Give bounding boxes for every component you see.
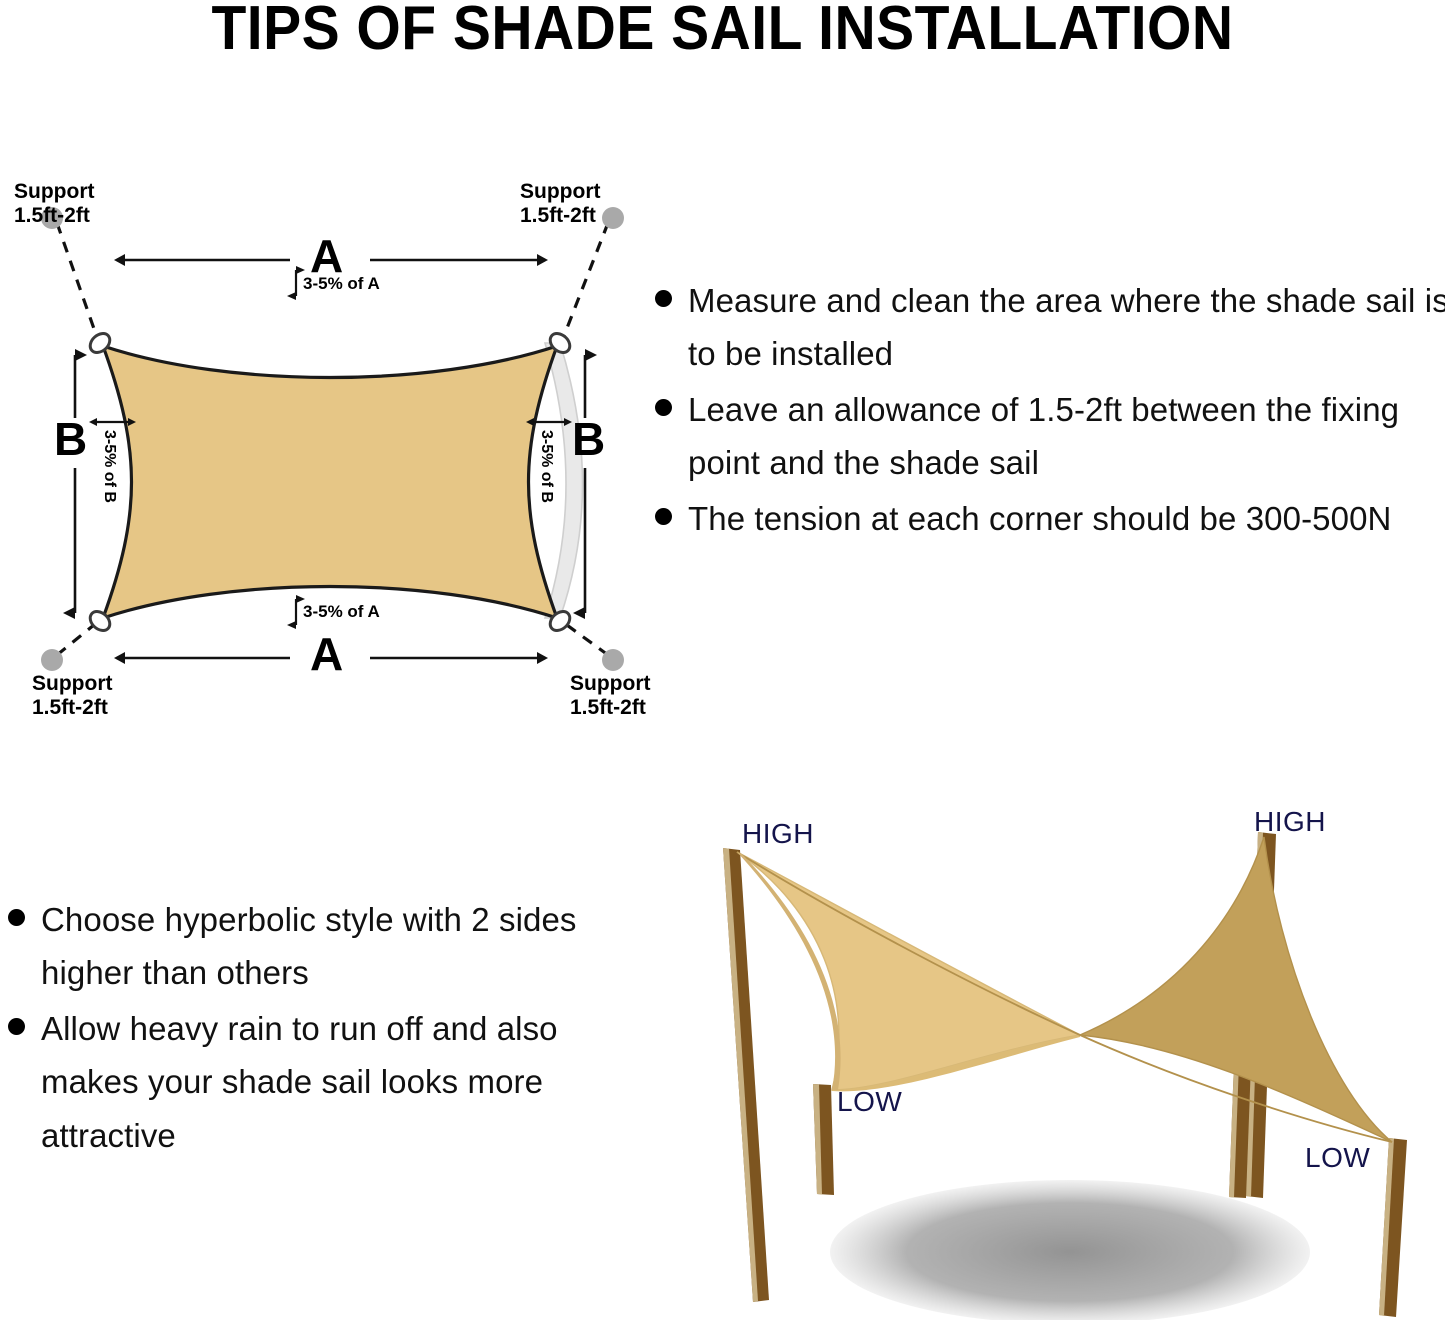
- curve-note-bottom: 3-5% of A: [303, 602, 380, 622]
- bullet-dot-icon: [8, 909, 25, 926]
- infographic-page: TIPS OF SHADE SAIL INSTALLATION: [0, 0, 1445, 1319]
- rectangular-shade-sail-dimension-diagram: Support 1.5ft-2ft Support 1.5ft-2ft Supp…: [0, 150, 660, 730]
- list-item: Allow heavy rain to run off and also mak…: [8, 1002, 633, 1162]
- sail-panel-left: [737, 852, 1080, 1090]
- support-label-line2: 1.5ft-2ft: [520, 204, 596, 227]
- support-label-line2: 1.5ft-2ft: [570, 696, 646, 719]
- hyperbolic-shade-sail-illustration: HIGH HIGH LOW LOW: [680, 790, 1445, 1320]
- list-item: The tension at each corner should be 300…: [655, 492, 1445, 545]
- list-item-label: The tension at each corner should be 300…: [688, 492, 1445, 545]
- list-item: Leave an allowance of 1.5-2ft between th…: [655, 383, 1445, 490]
- list-item-label: Measure and clean the area where the sha…: [688, 274, 1445, 381]
- dimension-label-right-B: B: [572, 416, 605, 462]
- list-item: Choose hyperbolic style with 2 sides hig…: [8, 893, 633, 1000]
- support-label-line2: 1.5ft-2ft: [32, 696, 108, 719]
- support-label-bottom-left: Support 1.5ft-2ft: [32, 672, 112, 720]
- list-item-label: Allow heavy rain to run off and also mak…: [41, 1002, 633, 1162]
- post-low-left: [813, 1084, 834, 1195]
- support-label-line1: Support: [14, 180, 94, 203]
- post-high-left: [723, 848, 769, 1302]
- support-label-line1: Support: [570, 672, 650, 695]
- support-label-top-left: Support 1.5ft-2ft: [14, 180, 94, 228]
- dimension-label-left-B: B: [54, 416, 87, 462]
- label-high-left: HIGH: [742, 818, 814, 850]
- label-high-right: HIGH: [1254, 806, 1326, 838]
- support-label-line1: Support: [520, 180, 600, 203]
- sail-body: [103, 346, 557, 618]
- installation-tips-list: Measure and clean the area where the sha…: [655, 274, 1445, 547]
- curve-note-right: 3-5% of B: [537, 430, 555, 503]
- curve-note-top: 3-5% of A: [303, 274, 380, 294]
- dimension-label-top-A: A: [310, 233, 343, 279]
- page-title: TIPS OF SHADE SAIL INSTALLATION: [58, 0, 1387, 61]
- ground-shadow: [830, 1180, 1310, 1320]
- list-item-label: Leave an allowance of 1.5-2ft between th…: [688, 383, 1445, 490]
- label-low-left: LOW: [837, 1086, 902, 1118]
- support-label-top-right: Support 1.5ft-2ft: [520, 180, 600, 228]
- support-label-line1: Support: [32, 672, 112, 695]
- bullet-dot-icon: [655, 508, 672, 525]
- list-item: Measure and clean the area where the sha…: [655, 274, 1445, 381]
- label-low-right: LOW: [1305, 1142, 1370, 1174]
- dimension-label-bottom-A: A: [310, 631, 343, 677]
- list-item-label: Choose hyperbolic style with 2 sides hig…: [41, 893, 633, 1000]
- support-label-line2: 1.5ft-2ft: [14, 204, 90, 227]
- support-label-bottom-right: Support 1.5ft-2ft: [570, 672, 650, 720]
- bullet-dot-icon: [8, 1018, 25, 1035]
- post-low-far-right: [1379, 1138, 1407, 1317]
- bullet-dot-icon: [655, 399, 672, 416]
- curve-note-left: 3-5% of B: [100, 430, 118, 503]
- bullet-dot-icon: [655, 290, 672, 307]
- hyperbolic-style-tips-list: Choose hyperbolic style with 2 sides hig…: [8, 893, 633, 1164]
